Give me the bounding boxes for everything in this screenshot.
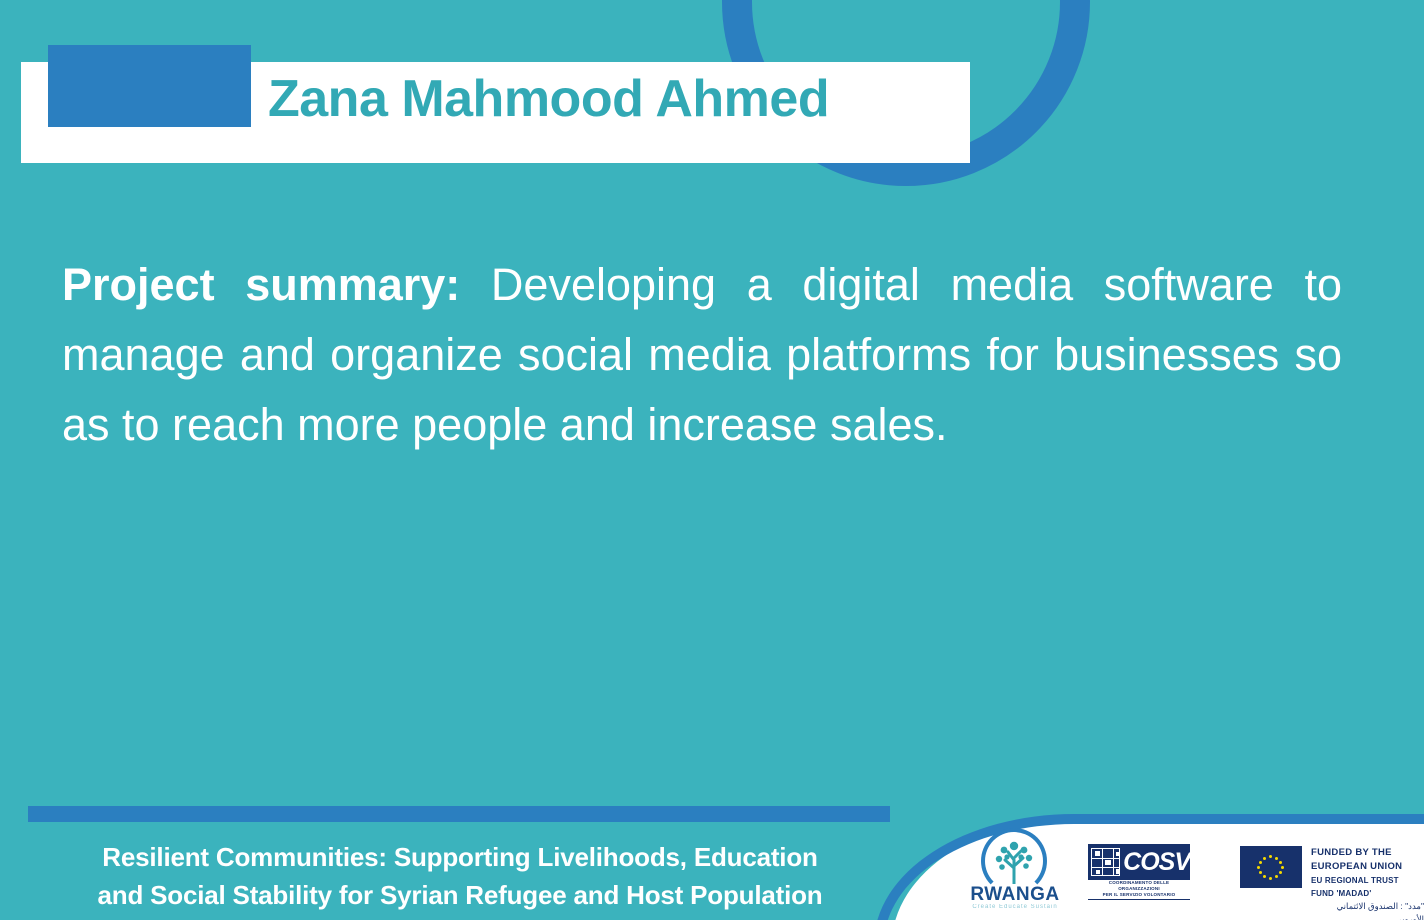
cosv-logo-subtext: COORDINAMENTO DELLE ORGANIZZAZIONI PER I… (1088, 880, 1190, 900)
footer-project-title-line1: Resilient Communities: Supporting Liveli… (40, 838, 880, 876)
project-summary-paragraph: Project summary: Developing a digital me… (62, 250, 1342, 460)
footer-project-title: Resilient Communities: Supporting Liveli… (40, 838, 880, 914)
cosv-map-icon (1091, 848, 1120, 876)
eu-funding-line3-arabic: "مدد" : الصندوق الائتماني الأوروبي (1311, 900, 1424, 920)
cosv-logo: COSV COORDINAMENTO DELLE ORGANIZZAZIONI … (1088, 844, 1190, 900)
eu-funding-text: FUNDED BY THE EUROPEAN UNION EU REGIONAL… (1311, 846, 1424, 920)
page-title: Zana Mahmood Ahmed (268, 73, 829, 125)
cosv-subline-1: COORDINAMENTO DELLE ORGANIZZAZIONI (1088, 880, 1190, 892)
footer-project-title-line2: and Social Stability for Syrian Refugee … (40, 876, 880, 914)
rwanga-tree-icon (988, 838, 1042, 884)
eu-funding-line2: EU REGIONAL TRUST FUND 'MADAD' (1311, 874, 1424, 900)
cosv-logo-bar: COSV (1088, 844, 1190, 880)
slide-canvas: Zana Mahmood Ahmed Project summary: Deve… (0, 0, 1424, 920)
eu-funding-logo: FUNDED BY THE EUROPEAN UNION EU REGIONAL… (1240, 846, 1424, 898)
footer-blue-bar (28, 806, 890, 822)
rwanga-logo: RWANGA Create Educate Sustain (962, 826, 1068, 920)
cosv-subline-2: PER IL SERVIZIO VOLONTARIO (1088, 892, 1190, 898)
rwanga-logo-name: RWANGA (962, 884, 1068, 906)
header-blue-box (48, 45, 251, 127)
cosv-logo-name: COSV (1123, 850, 1190, 875)
rwanga-logo-tagline: Create Educate Sustain (962, 904, 1068, 910)
project-summary-label: Project summary: (62, 259, 460, 310)
footer-logo-strip: RWANGA Create Educate Sustain COSV (940, 820, 1424, 920)
eu-flag-icon (1240, 846, 1302, 888)
eu-funding-line1: FUNDED BY THE EUROPEAN UNION (1311, 846, 1424, 874)
